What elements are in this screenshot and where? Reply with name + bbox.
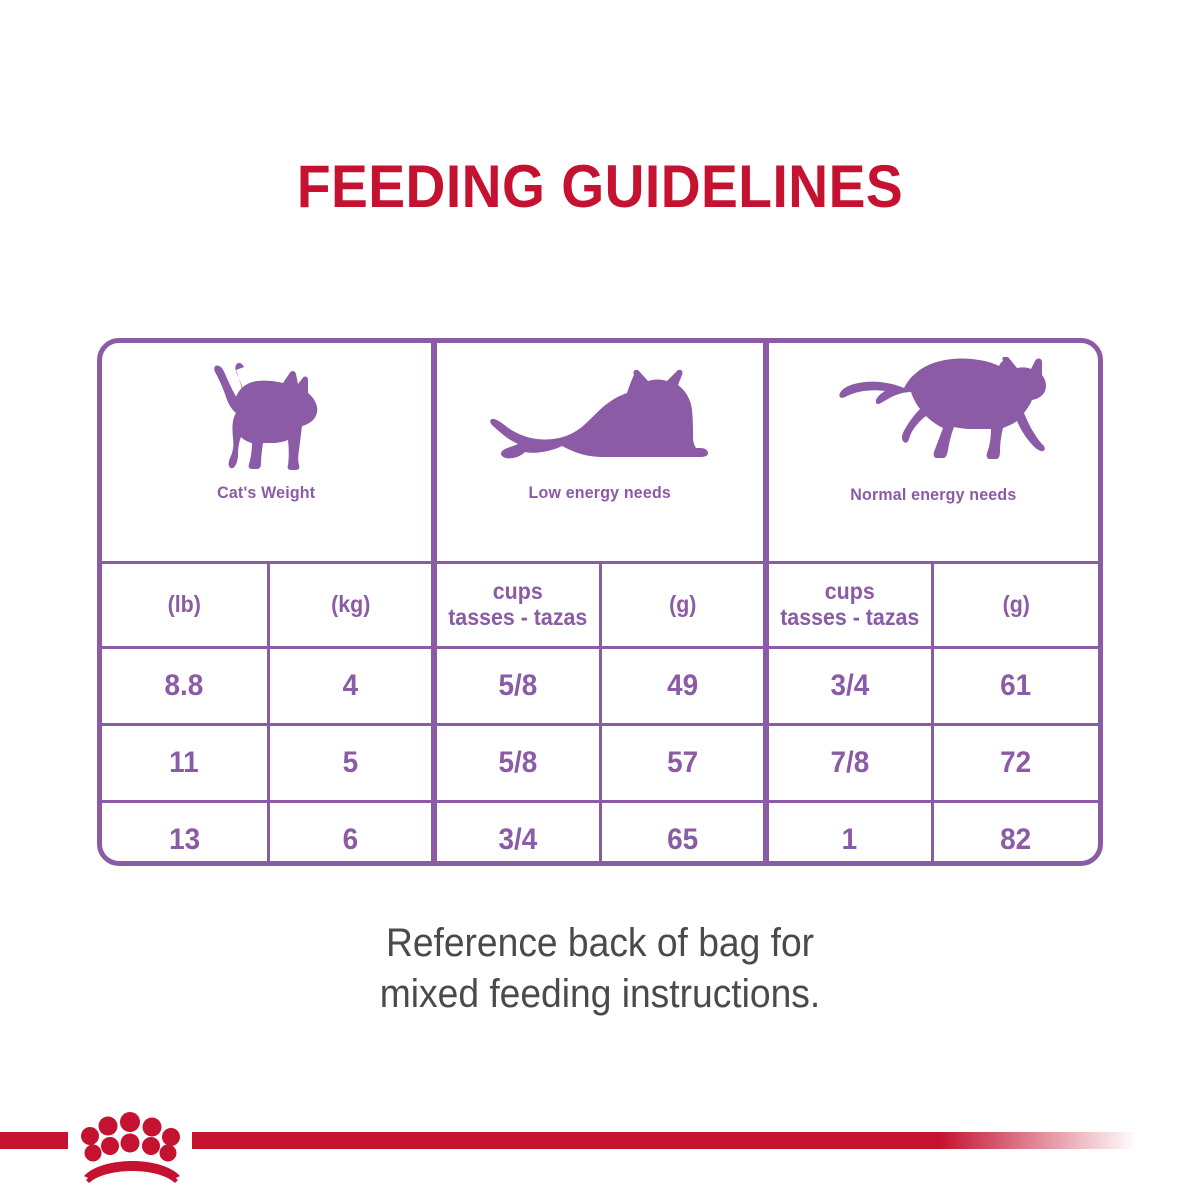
unit-header-line1: cups	[825, 578, 875, 604]
unit-header-normal-cups: cups tasses - tazas	[766, 563, 932, 648]
cell-low-cups: 3/4	[434, 802, 600, 867]
table-group-header-row: Cat's Weight Low energy needs	[102, 343, 1098, 563]
unit-header-line2: tasses - tazas	[775, 605, 925, 631]
group-header-label: Cat's Weight	[217, 483, 315, 503]
cell-normal-cups: 1	[766, 802, 932, 867]
unit-header-low-cups: cups tasses - tazas	[434, 563, 600, 648]
page-title: FEEDING GUIDELINES	[48, 152, 1152, 221]
cell-low-cups: 5/8	[434, 648, 600, 725]
group-header-normal-energy: Normal energy needs	[766, 343, 1098, 563]
footnote-line-1: Reference back of bag for	[42, 918, 1158, 969]
cell-normal-cups: 3/4	[766, 648, 932, 725]
unit-header-line1: (g)	[1002, 591, 1029, 617]
group-header-label: Normal energy needs	[850, 485, 1016, 505]
cell-weight-kg: 6	[268, 802, 434, 867]
brand-bar-right-segment	[192, 1132, 1137, 1149]
unit-header-low-grams: (g)	[600, 563, 766, 648]
unit-header-line1: (lb)	[168, 591, 201, 617]
unit-header-lb: (lb)	[102, 563, 268, 648]
cat-standing-silhouette	[203, 357, 331, 477]
group-header-cats-weight: Cat's Weight	[102, 343, 434, 563]
group-header-label: Low energy needs	[529, 483, 671, 503]
cell-normal-grams: 61	[932, 648, 1098, 725]
cell-weight-lb: 8.8	[102, 648, 268, 725]
brand-footer-bar	[0, 1124, 1200, 1154]
cell-weight-lb: 11	[102, 725, 268, 802]
brand-bar-left-segment	[0, 1132, 68, 1149]
footnote-text: Reference back of bag for mixed feeding …	[42, 918, 1158, 1020]
cat-walking-silhouette	[821, 357, 1047, 479]
group-header-low-energy: Low energy needs	[434, 343, 766, 563]
unit-header-line1: (g)	[669, 591, 696, 617]
cell-normal-grams: 82	[932, 802, 1098, 867]
cat-lying-silhouette	[484, 357, 716, 477]
unit-header-line1: cups	[493, 578, 543, 604]
cell-low-grams: 49	[600, 648, 766, 725]
table-row: 11 5 5/8 57 7/8 72	[102, 725, 1098, 802]
cell-weight-lb: 13	[102, 802, 268, 867]
unit-header-kg: (kg)	[268, 563, 434, 648]
footnote-line-2: mixed feeding instructions.	[42, 969, 1158, 1020]
cell-low-cups: 5/8	[434, 725, 600, 802]
cell-normal-cups: 7/8	[766, 725, 932, 802]
cell-weight-kg: 4	[268, 648, 434, 725]
unit-header-normal-grams: (g)	[932, 563, 1098, 648]
feeding-guidelines-table: Cat's Weight Low energy needs	[97, 338, 1103, 866]
table-row: 13 6 3/4 65 1 82	[102, 802, 1098, 867]
table-unit-header-row: (lb) (kg) cups tasses - tazas (g)	[102, 563, 1098, 648]
cell-weight-kg: 5	[268, 725, 434, 802]
unit-header-line1: (kg)	[331, 591, 370, 617]
cell-low-grams: 65	[600, 802, 766, 867]
royal-canin-crown-logo	[74, 1106, 190, 1184]
cell-normal-grams: 72	[932, 725, 1098, 802]
table-row: 8.8 4 5/8 49 3/4 61	[102, 648, 1098, 725]
cell-low-grams: 57	[600, 725, 766, 802]
unit-header-line2: tasses - tazas	[443, 605, 593, 631]
